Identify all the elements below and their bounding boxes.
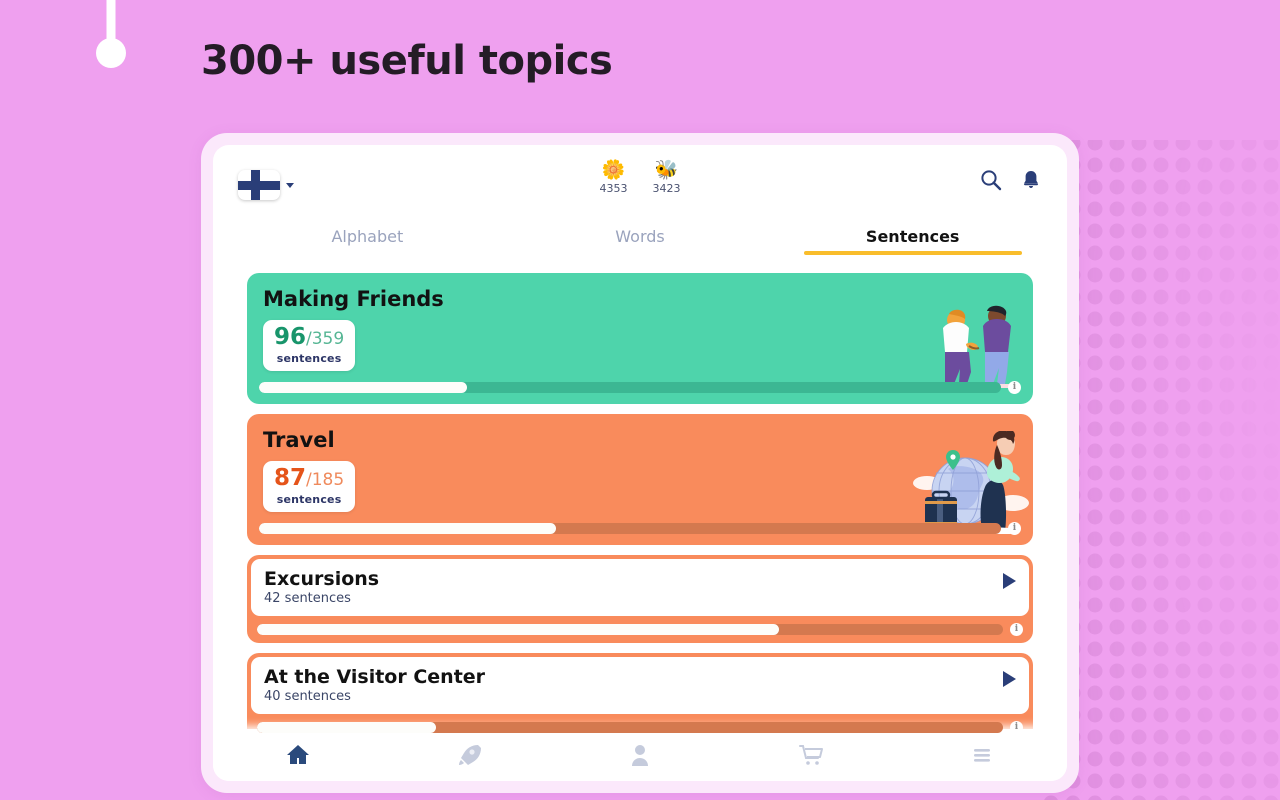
info-icon[interactable]: i	[1010, 623, 1023, 636]
subtopic-count: 42 sentences	[264, 591, 1016, 606]
subtopic-card: Excursions 42 sentences	[251, 559, 1029, 616]
page-headline: 300+ useful topics	[201, 38, 612, 84]
thermometer-bulb	[96, 38, 126, 68]
topic-progress-bar	[259, 523, 1001, 534]
nav-rocket[interactable]	[384, 742, 555, 768]
play-icon[interactable]	[1003, 671, 1016, 687]
stat-bee[interactable]: 🐝 3423	[653, 159, 681, 195]
topic-total-count: /359	[306, 329, 344, 349]
subtopic-at-the-visitor-center[interactable]: At the Visitor Center 40 sentences i	[247, 653, 1033, 741]
subtopic-card: At the Visitor Center 40 sentences	[251, 657, 1029, 714]
subtopic-progress-row: i	[251, 616, 1029, 639]
info-icon[interactable]: i	[1008, 522, 1021, 535]
search-icon[interactable]	[980, 169, 1002, 191]
topic-card-travel[interactable]: Travel 87/185 sentences i	[247, 414, 1033, 545]
subtopic-progress-row: i	[251, 714, 1029, 737]
flower-count: 4353	[600, 182, 628, 195]
subtopic-excursions[interactable]: Excursions 42 sentences i	[247, 555, 1033, 643]
subtopic-title: Excursions	[264, 568, 1016, 590]
subtopic-count: 40 sentences	[264, 689, 1016, 704]
section-tabs: Alphabet Words Sentences	[213, 227, 1067, 255]
topic-progress-badge: 96/359 sentences	[263, 320, 355, 371]
nav-menu[interactable]	[896, 742, 1067, 768]
topic-total-count: /185	[306, 470, 344, 490]
bee-icon: 🐝	[655, 159, 679, 181]
info-icon[interactable]: i	[1008, 381, 1021, 394]
topic-progress-row: i	[247, 512, 1033, 545]
subtopic-progress-fill	[257, 624, 779, 635]
bell-icon[interactable]	[1020, 169, 1042, 191]
nav-cart[interactable]	[725, 742, 896, 768]
topic-title: Travel	[263, 428, 1017, 452]
topic-progress-bar	[259, 382, 1001, 393]
app-header: 🌼 4353 🐝 3423	[213, 145, 1067, 227]
nav-home[interactable]	[213, 742, 384, 768]
rocket-icon	[456, 742, 482, 768]
app-screen: 🌼 4353 🐝 3423 Alphabet Words	[213, 145, 1067, 781]
header-actions	[980, 169, 1042, 191]
home-icon	[285, 742, 311, 768]
subtopic-title: At the Visitor Center	[264, 666, 1016, 688]
tablet-device-frame: 🌼 4353 🐝 3423 Alphabet Words	[201, 133, 1079, 793]
nav-profile[interactable]	[555, 742, 726, 768]
play-icon[interactable]	[1003, 573, 1016, 589]
topic-progress-row: i	[247, 371, 1033, 404]
topic-done-count: 87	[274, 465, 306, 491]
subtopic-progress-fill	[257, 722, 436, 733]
subtopic-progress-bar	[257, 624, 1003, 635]
menu-icon	[969, 742, 995, 768]
tab-words[interactable]: Words	[504, 227, 777, 255]
topic-progress-fill	[259, 523, 556, 534]
stats-group: 🌼 4353 🐝 3423	[213, 159, 1067, 195]
topic-list: Making Friends 96/359 sentences i	[213, 255, 1067, 781]
tab-sentences[interactable]: Sentences	[776, 227, 1049, 255]
stat-flower[interactable]: 🌼 4353	[600, 159, 628, 195]
flower-icon: 🌼	[602, 159, 626, 181]
topic-unit-label: sentences	[274, 352, 344, 365]
topic-title: Making Friends	[263, 287, 1017, 311]
thermometer-decoration	[96, 0, 126, 80]
topic-progress-badge: 87/185 sentences	[263, 461, 355, 512]
subtopic-progress-bar	[257, 722, 1003, 733]
tab-alphabet[interactable]: Alphabet	[231, 227, 504, 255]
topic-unit-label: sentences	[274, 493, 344, 506]
profile-icon	[627, 742, 653, 768]
cart-icon	[798, 742, 824, 768]
info-icon[interactable]: i	[1010, 721, 1023, 734]
topic-progress-fill	[259, 382, 467, 393]
topic-done-count: 96	[274, 324, 306, 350]
bee-count: 3423	[653, 182, 681, 195]
topic-card-making-friends[interactable]: Making Friends 96/359 sentences i	[247, 273, 1033, 404]
